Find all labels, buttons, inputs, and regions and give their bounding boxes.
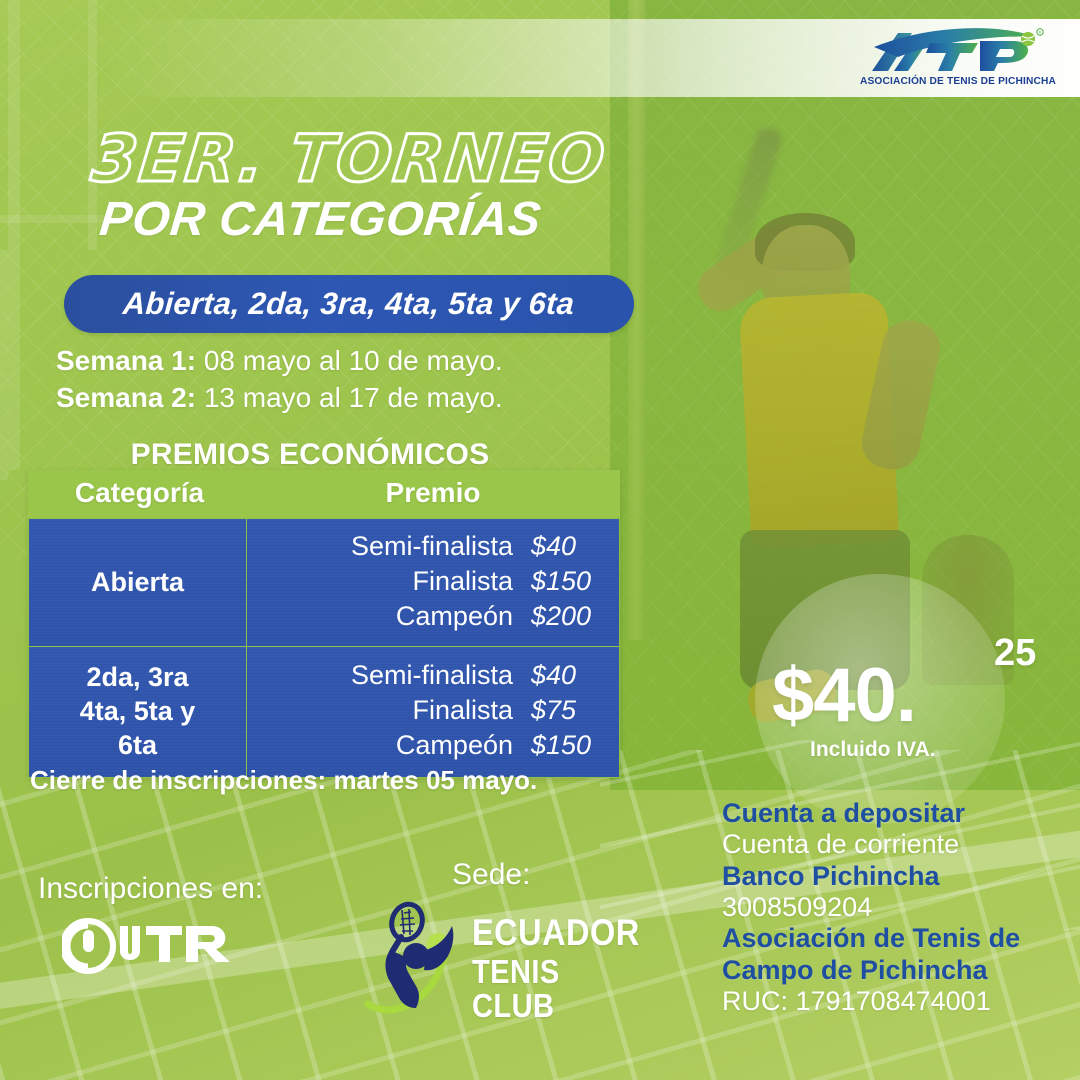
column-header-category: Categoría	[29, 470, 247, 519]
bank-line-ruc: RUC: 1791708474001	[722, 986, 1078, 1017]
bank-line-bank-name: Banco Pichincha	[722, 861, 1078, 892]
venue-label: Sede:	[452, 858, 530, 892]
price-amount: $40.	[772, 658, 916, 734]
table-row: 2da, 3ra 4ta, 5ta y 6ta Semi-finalista $…	[29, 647, 620, 777]
schedule-item: Semana 1: 08 mayo al 10 de mayo.	[56, 343, 616, 380]
schedule-label: Semana 1:	[56, 345, 196, 376]
column-header-prize: Premio	[247, 470, 620, 519]
cell-prizes: Semi-finalista $40 Finalista $150 Campeó…	[247, 519, 620, 647]
prize-amount: $40	[513, 658, 605, 693]
utr-logo-icon[interactable]	[62, 918, 242, 974]
venue-name: ECUADOR	[472, 914, 630, 952]
category-line: 6ta	[29, 729, 246, 763]
registration-label: Inscripciones en:	[38, 872, 263, 906]
bank-line-account-type: Cuenta de corriente	[722, 829, 1078, 860]
prize-place: Campeón	[396, 728, 513, 763]
prize-place: Semi-finalista	[351, 658, 513, 693]
cell-category: 2da, 3ra 4ta, 5ta y 6ta	[29, 647, 247, 777]
prize-amount: $150	[513, 728, 605, 763]
bank-line-heading: Cuenta a depositar	[722, 798, 1078, 829]
prizes-table-body: Abierta Semi-finalista $40 Finalista $15…	[29, 519, 620, 778]
svg-text:R: R	[1039, 31, 1042, 35]
prize-amount: $75	[513, 693, 605, 728]
prize-place: Semi-finalista	[351, 529, 513, 564]
fence-post	[8, 0, 20, 470]
prize-line: Semi-finalista $40	[247, 658, 605, 693]
category-line: 2da, 3ra	[29, 661, 246, 695]
categories-banner: Abierta, 2da, 3ra, 4ta, 5ta y 6ta	[64, 275, 634, 333]
prize-place: Finalista	[412, 693, 513, 728]
prize-line: Finalista $150	[247, 564, 605, 599]
bank-line-holder-2: Campo de Pichincha	[722, 955, 1078, 986]
price-cents: 25	[994, 634, 1036, 672]
bank-line-account-number: 3008509204	[722, 892, 1078, 923]
schedule-value: 13 mayo al 17 de mayo.	[204, 382, 503, 413]
atp-logo-subtitle: ASOCIACIÓN DE TENIS DE PICHINCHA	[860, 76, 1056, 87]
category-line: 4ta, 5ta y	[29, 695, 246, 729]
categories-banner-label: Abierta, 2da, 3ra, 4ta, 5ta y 6ta	[122, 286, 576, 322]
tennis-player-icon	[360, 900, 470, 1015]
prizes-table-head: Categoría Premio	[29, 470, 620, 519]
prize-line: Campeón $200	[247, 599, 605, 634]
prize-amount: $40	[513, 529, 605, 564]
schedule-value: 08 mayo al 10 de mayo.	[204, 345, 503, 376]
tournament-poster: R ASOCIACIÓN DE TENIS DE PICHINCHA 3ER. …	[0, 0, 1080, 1080]
atp-logo: R ASOCIACIÓN DE TENIS DE PICHINCHA	[858, 22, 1058, 92]
closing-date-text: Cierre de inscripciones: martes 05 mayo.	[30, 765, 537, 796]
atp-logo-icon: R	[868, 27, 1048, 75]
table-header-row: Categoría Premio	[29, 470, 620, 519]
prize-place: Campeón	[396, 599, 513, 634]
schedule-item: Semana 2: 13 mayo al 17 de mayo.	[56, 380, 616, 417]
schedule-label: Semana 2:	[56, 382, 196, 413]
cell-prizes: Semi-finalista $40 Finalista $75 Campeón…	[247, 647, 620, 777]
ecuador-tenis-club-logo[interactable]: ECUADOR TENIS CLUB	[360, 900, 650, 1015]
prize-amount: $150	[513, 564, 605, 599]
page-title-line1: 3ER. TORNEO	[88, 122, 610, 197]
schedule-list: Semana 1: 08 mayo al 10 de mayo. Semana …	[56, 343, 616, 417]
table-row: Abierta Semi-finalista $40 Finalista $15…	[29, 519, 620, 647]
prizes-table: Categoría Premio Abierta Semi-finalista …	[28, 470, 620, 778]
prize-line: Finalista $75	[247, 693, 605, 728]
prize-line: Semi-finalista $40	[247, 529, 605, 564]
bank-details: Cuenta a depositar Cuenta de corriente B…	[722, 798, 1078, 1017]
venue-subname: TENIS CLUB	[472, 955, 630, 1024]
prize-amount: $200	[513, 599, 605, 634]
cell-category: Abierta	[29, 519, 247, 647]
price-tax-note: Incluido IVA.	[810, 738, 936, 762]
bank-line-holder-1: Asociación de Tenis de	[722, 923, 1078, 954]
price-badge: $40. 25 Incluido IVA.	[762, 630, 1062, 770]
prize-place: Finalista	[412, 564, 513, 599]
venue-name-block: ECUADOR TENIS CLUB	[472, 914, 652, 1024]
prize-line: Campeón $150	[247, 728, 605, 763]
page-title-line2: POR CATEGORÍAS	[97, 192, 544, 247]
prizes-heading: PREMIOS ECONÓMICOS	[0, 438, 620, 472]
